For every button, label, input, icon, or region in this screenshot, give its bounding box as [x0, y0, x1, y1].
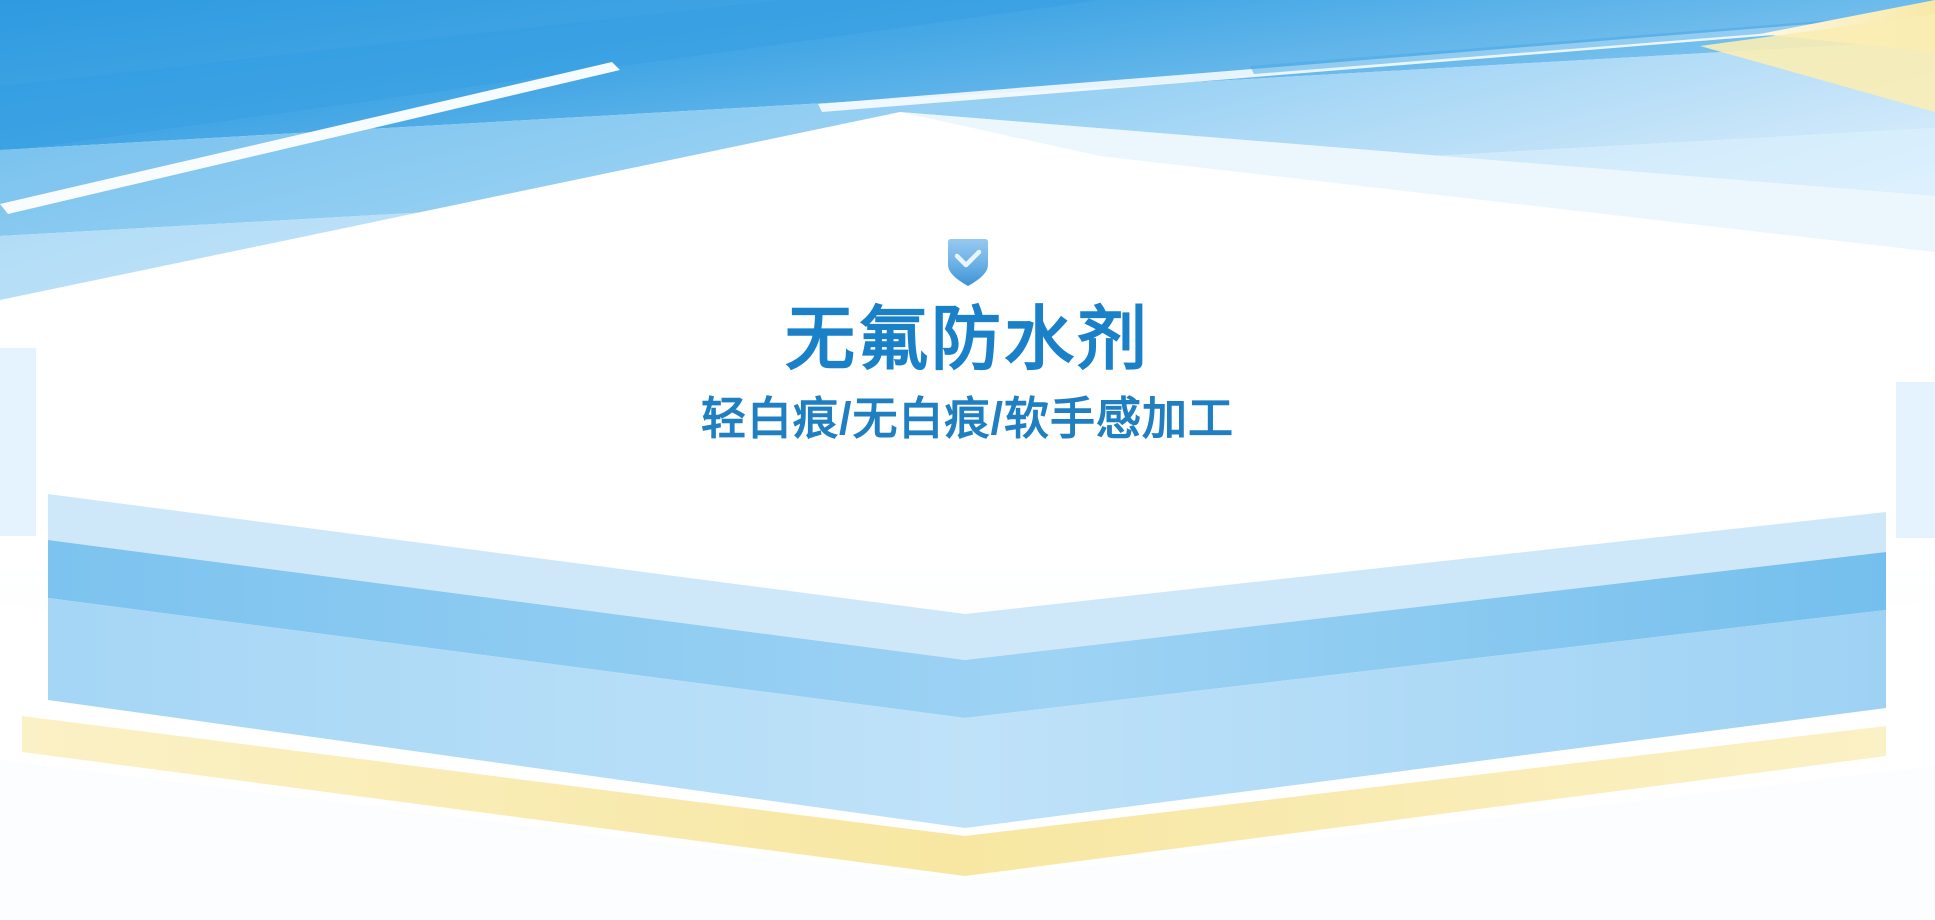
product-banner: 无氟防水剂 轻白痕/无白痕/软手感加工 — [0, 0, 1935, 920]
bg-strip-right — [1896, 382, 1935, 538]
bg-strip-left — [0, 348, 36, 536]
page-subtitle: 轻白痕/无白痕/软手感加工 — [701, 394, 1234, 444]
page-title: 无氟防水剂 — [785, 302, 1150, 378]
shield-check-icon — [945, 238, 991, 288]
background-geometry — [0, 0, 1935, 920]
